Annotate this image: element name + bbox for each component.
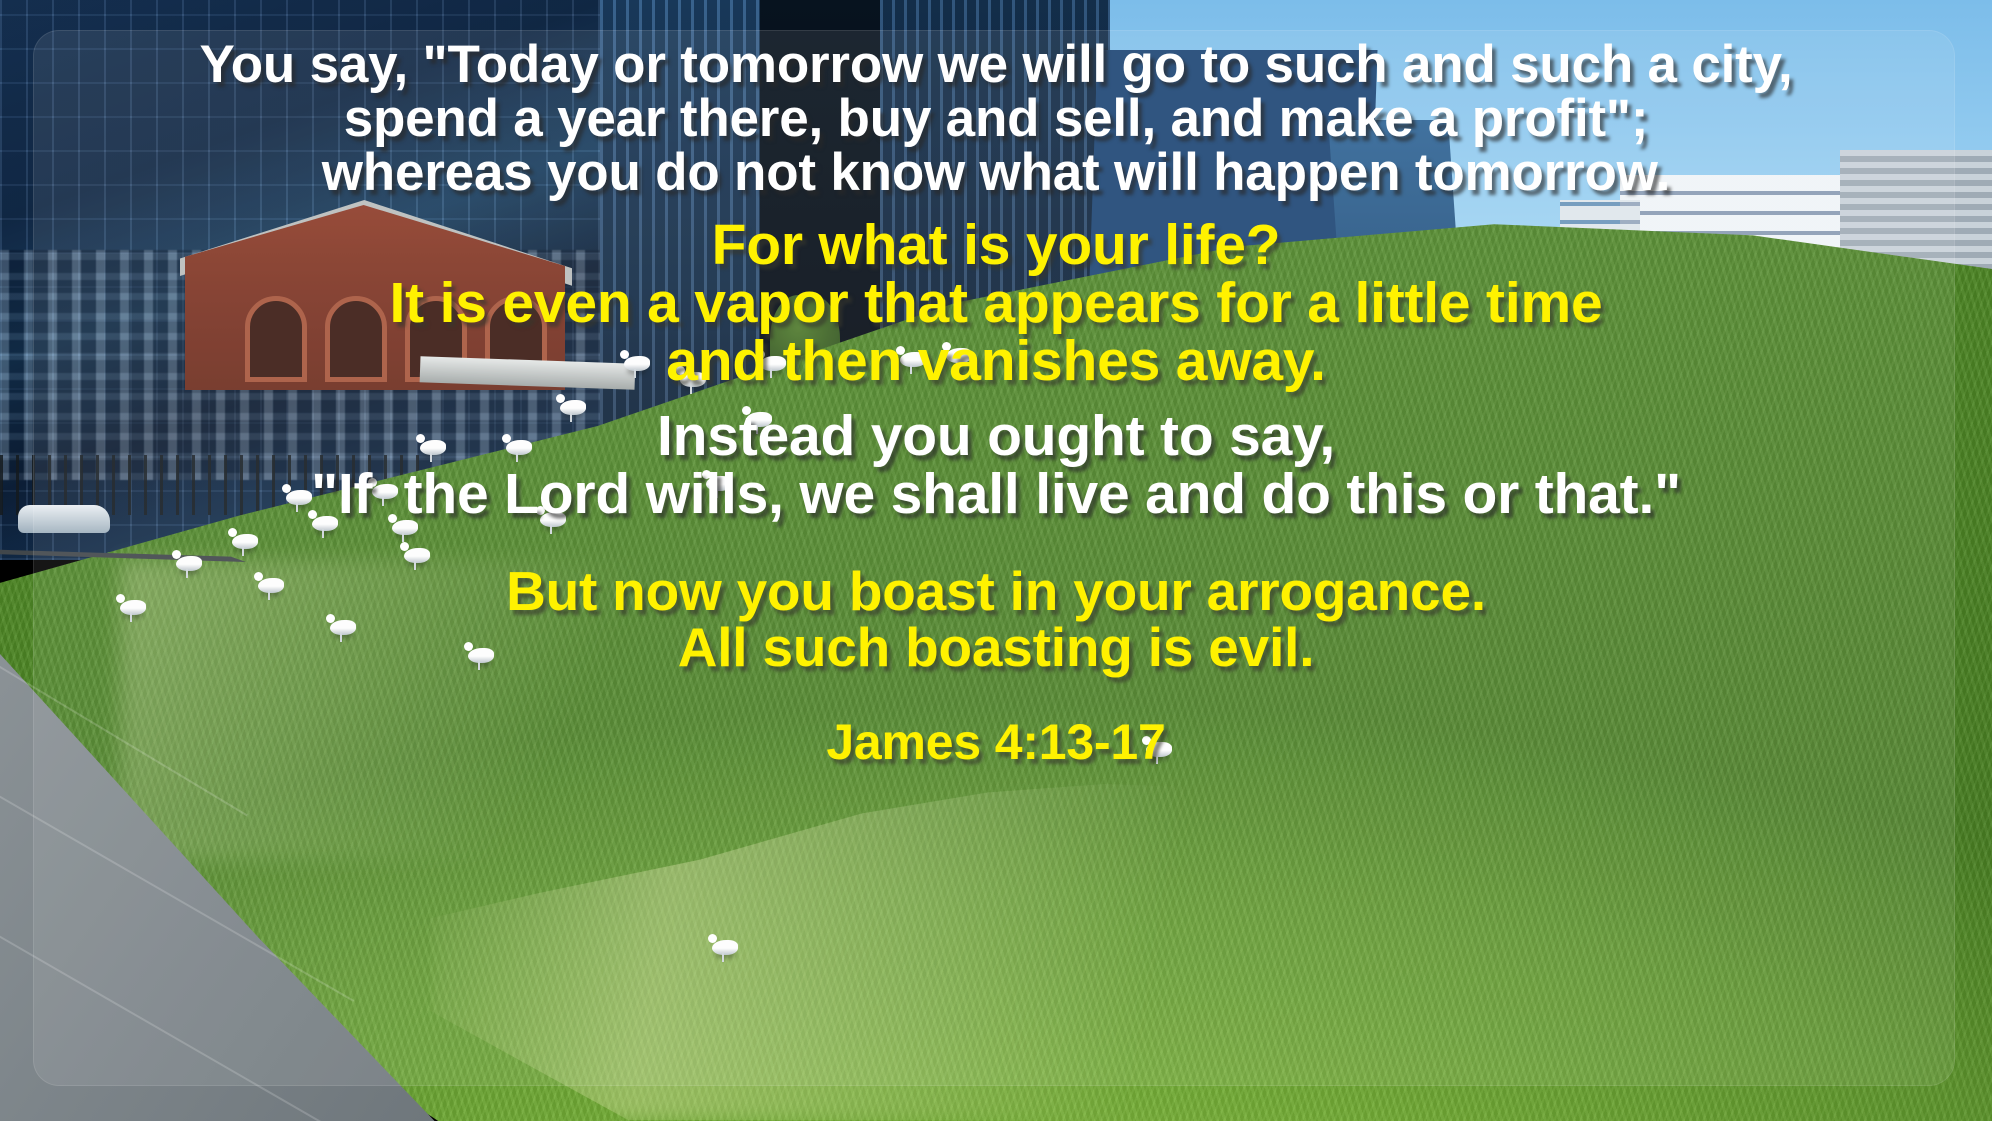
- verse-line-1: You say, "Today or tomorrow we will go t…: [0, 38, 1992, 92]
- verse-line-9: But now you boast in your arrogance.: [0, 563, 1992, 619]
- verse-line-5: It is even a vapor that appears for a li…: [0, 274, 1992, 332]
- verse-line-7: Instead you ought to say,: [0, 407, 1992, 465]
- verse-text-block: You say, "Today or tomorrow we will go t…: [0, 0, 1992, 1121]
- verse-line-6: and then vanishes away.: [0, 332, 1992, 390]
- verse-line-8: "If the Lord wills, we shall live and do…: [0, 465, 1992, 523]
- verse-line-4: For what is your life?: [0, 216, 1992, 274]
- verse-reference: James 4:13-17: [0, 717, 1992, 768]
- verse-line-10: All such boasting is evil.: [0, 619, 1992, 675]
- verse-line-3: whereas you do not know what will happen…: [0, 146, 1992, 200]
- verse-line-2: spend a year there, buy and sell, and ma…: [0, 92, 1992, 146]
- verse-image-stage: You say, "Today or tomorrow we will go t…: [0, 0, 1992, 1121]
